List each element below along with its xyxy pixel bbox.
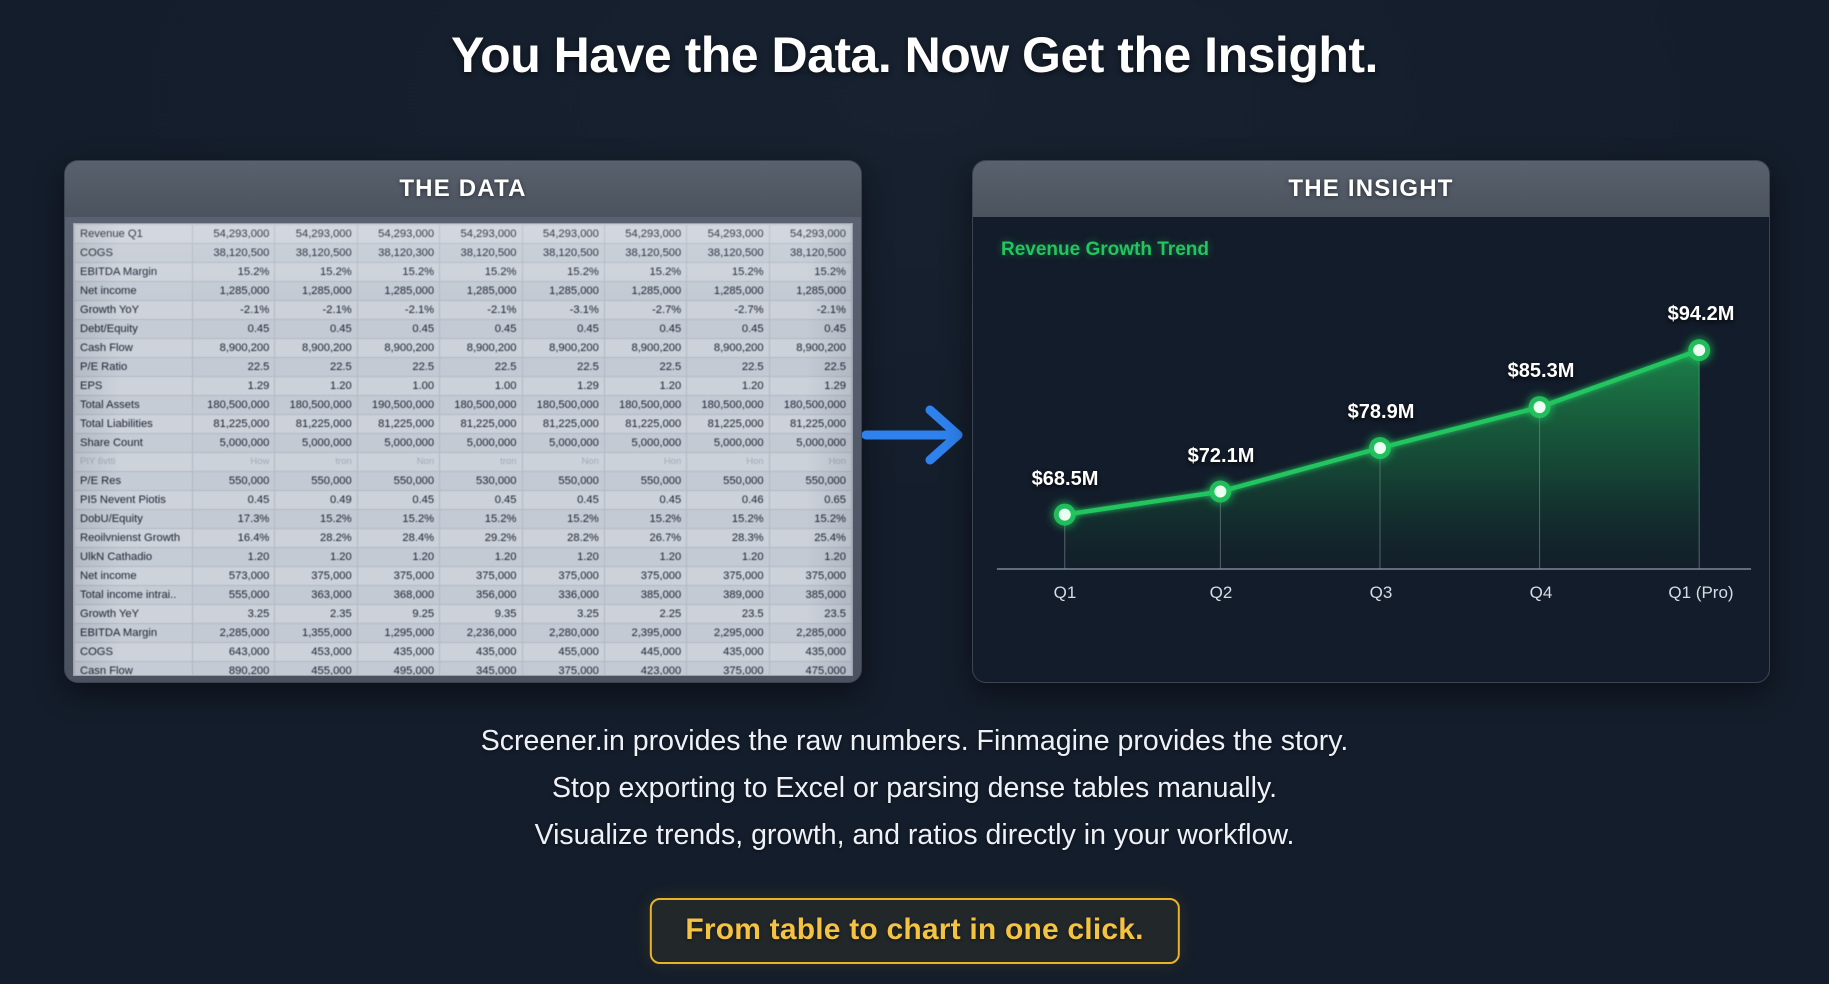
table-row[interactable]: Cash Flow8,900,2008,900,2008,900,2008,90…	[75, 339, 852, 358]
table-cell: 22.5	[769, 358, 851, 377]
table-cell: 550,000	[687, 472, 769, 491]
cta-button[interactable]: From table to chart in one click.	[649, 898, 1179, 964]
table-cell: 0.45	[604, 320, 686, 339]
table-cell: 54,293,000	[769, 225, 851, 244]
table-cell: 1.00	[440, 377, 522, 396]
table-cell: -2.7%	[687, 301, 769, 320]
table-cell: -2.1%	[357, 301, 439, 320]
table-cell: 29.2%	[440, 529, 522, 548]
table-row-label: Cash Flow	[75, 339, 193, 358]
table-cell: 0.45	[769, 320, 851, 339]
table-cell: 38,120,300	[357, 244, 439, 263]
table-cell: 22.5	[275, 358, 357, 377]
table-row[interactable]: COGS643,000453,000435,000435,000455,0004…	[75, 643, 852, 662]
table-row-label: Growth YeY	[75, 605, 193, 624]
table-cell: 8,900,200	[604, 339, 686, 358]
table-cell: 81,225,000	[357, 415, 439, 434]
table-cell: 28.2%	[522, 529, 604, 548]
table-cell: 375,000	[687, 567, 769, 586]
table-cell: 1,295,000	[357, 624, 439, 643]
table-cell: 15.2%	[357, 263, 439, 282]
table-row-label: EBITDA Margin	[75, 263, 193, 282]
table-row[interactable]: Share Count5,000,0005,000,0005,000,0005,…	[75, 434, 852, 453]
table-cell: 1.29	[193, 377, 275, 396]
table-cell: 356,000	[440, 586, 522, 605]
data-panel-body: Revenue Q154,293,00054,293,00054,293,000…	[65, 217, 861, 683]
table-cell: 26.7%	[604, 529, 686, 548]
table-cell: 15.2%	[275, 263, 357, 282]
table-cell: 1,285,000	[687, 282, 769, 301]
table-cell: 38,120,500	[604, 244, 686, 263]
table-cell: 435,000	[687, 643, 769, 662]
table-cell: 455,000	[275, 662, 357, 677]
table-row[interactable]: PIY 6vttiHowtronNontronNonHonHonHon	[75, 453, 852, 472]
table-cell: 1.20	[357, 548, 439, 567]
table-cell: 5,000,000	[193, 434, 275, 453]
table-cell: 1,285,000	[275, 282, 357, 301]
table-cell: 15.2%	[604, 510, 686, 529]
table-cell: -2.1%	[440, 301, 522, 320]
table-cell: 0.46	[687, 491, 769, 510]
table-cell: 0.45	[604, 491, 686, 510]
table-row[interactable]: Revenue Q154,293,00054,293,00054,293,000…	[75, 225, 852, 244]
table-row-label: EBITDA Margin	[75, 624, 193, 643]
table-cell: 25.4%	[769, 529, 851, 548]
table-row-label: Revenue Q1	[75, 225, 193, 244]
table-cell: 375,000	[769, 567, 851, 586]
insight-panel-header: THE INSIGHT	[973, 161, 1769, 217]
table-cell: 1,285,000	[440, 282, 522, 301]
table-row-label: Debt/Equity	[75, 320, 193, 339]
table-cell: 2,285,000	[769, 624, 851, 643]
table-row-label: EPS	[75, 377, 193, 396]
table-row[interactable]: COGS38,120,50038,120,50038,120,30038,120…	[75, 244, 852, 263]
table-cell: 550,000	[357, 472, 439, 491]
table-row-label: UlkN Cathadio	[75, 548, 193, 567]
table-cell: 15.2%	[522, 263, 604, 282]
table-cell: 8,900,200	[687, 339, 769, 358]
table-cell: 5,000,000	[275, 434, 357, 453]
table-cell: 9.25	[357, 605, 439, 624]
table-cell: 336,000	[522, 586, 604, 605]
table-cell: 3.25	[193, 605, 275, 624]
table-cell: 23.5	[687, 605, 769, 624]
table-cell: 0.45	[357, 320, 439, 339]
revenue-line-chart	[973, 217, 1769, 683]
table-cell: 363,000	[275, 586, 357, 605]
chart-point-label: $78.9M	[1348, 401, 1415, 424]
table-row-label: P/E Res	[75, 472, 193, 491]
table-cell: 2,236,000	[440, 624, 522, 643]
table-cell: 81,225,000	[193, 415, 275, 434]
table-row[interactable]: Net income573,000375,000375,000375,00037…	[75, 567, 852, 586]
table-row[interactable]: P/E Ratio22.522.522.522.522.522.522.522.…	[75, 358, 852, 377]
table-cell: 1.00	[357, 377, 439, 396]
table-cell: 0.49	[275, 491, 357, 510]
table-cell: -2.1%	[769, 301, 851, 320]
table-cell: 3.25	[522, 605, 604, 624]
table-cell: 1.20	[604, 377, 686, 396]
table-cell: 550,000	[769, 472, 851, 491]
table-cell: 180,500,000	[687, 396, 769, 415]
table-cell: 0.45	[440, 491, 522, 510]
table-cell: 2.25	[604, 605, 686, 624]
table-cell: 0.45	[357, 491, 439, 510]
table-cell: 180,500,000	[275, 396, 357, 415]
table-cell: 8,900,200	[193, 339, 275, 358]
table-cell: 1.20	[275, 548, 357, 567]
chart-x-tick-label: Q4	[1530, 583, 1553, 603]
table-cell: 15.2%	[687, 510, 769, 529]
table-cell: 890,200	[193, 662, 275, 677]
table-row[interactable]: EBITDA Margin15.2%15.2%15.2%15.2%15.2%15…	[75, 263, 852, 282]
table-cell: 1,285,000	[604, 282, 686, 301]
table-cell: 375,000	[440, 567, 522, 586]
table-cell: -3.1%	[522, 301, 604, 320]
table-cell: 22.5	[193, 358, 275, 377]
chart-point-label: $72.1M	[1188, 445, 1255, 468]
table-row[interactable]: Casn Flow890,200455,000495,000345,000375…	[75, 662, 852, 677]
table-cell: 643,000	[193, 643, 275, 662]
table-cell: 81,225,000	[604, 415, 686, 434]
table-row-label: Casn Flow	[75, 662, 193, 677]
table-cell: 15.2%	[687, 263, 769, 282]
table-cell: 0.45	[522, 491, 604, 510]
table-cell: 1,285,000	[522, 282, 604, 301]
table-cell: 550,000	[604, 472, 686, 491]
table-cell: 15.2%	[604, 263, 686, 282]
table-cell: 1.20	[604, 548, 686, 567]
table-cell: 1.29	[769, 377, 851, 396]
table-cell: 5,000,000	[687, 434, 769, 453]
table-cell: tron	[440, 453, 522, 472]
table-cell: 180,500,000	[604, 396, 686, 415]
table-cell: 28.2%	[275, 529, 357, 548]
table-cell: 15.2%	[440, 510, 522, 529]
chart-point-label: $68.5M	[1032, 468, 1099, 491]
table-cell: 22.5	[604, 358, 686, 377]
table-cell: 28.4%	[357, 529, 439, 548]
table-row-label: Total income intrai..	[75, 586, 193, 605]
table-row[interactable]: EPS1.291.201.001.001.291.201.201.29	[75, 377, 852, 396]
table-cell: 5,000,000	[357, 434, 439, 453]
table-cell: 38,120,500	[440, 244, 522, 263]
table-cell: 0.45	[687, 320, 769, 339]
table-row[interactable]: Total Liabilities81,225,00081,225,00081,…	[75, 415, 852, 434]
table-cell: 0.65	[769, 491, 851, 510]
table-cell: 180,500,000	[193, 396, 275, 415]
table-row-label: P/E Ratio	[75, 358, 193, 377]
table-cell: 385,000	[604, 586, 686, 605]
table-row[interactable]: Growth YoY-2.1%-2.1%-2.1%-2.1%-3.1%-2.7%…	[75, 301, 852, 320]
table-cell: 54,293,000	[357, 225, 439, 244]
chart-x-tick-label: Q1 (Pro)	[1668, 583, 1733, 603]
table-cell: 389,000	[687, 586, 769, 605]
table-row[interactable]: Growth YeY3.252.359.259.353.252.2523.523…	[75, 605, 852, 624]
table-cell: 5,000,000	[604, 434, 686, 453]
table-cell: Non	[522, 453, 604, 472]
table-row[interactable]: Reoilvnienst Growth16.4%28.2%28.4%29.2%2…	[75, 529, 852, 548]
table-cell: 423,000	[604, 662, 686, 677]
table-row[interactable]: DobU/Equity17.3%15.2%15.2%15.2%15.2%15.2…	[75, 510, 852, 529]
table-cell: 81,225,000	[275, 415, 357, 434]
table-cell: 81,225,000	[687, 415, 769, 434]
table-cell: 2,295,000	[687, 624, 769, 643]
table-cell: 54,293,000	[193, 225, 275, 244]
chart-data-point[interactable]	[1059, 509, 1071, 521]
table-cell: 38,120,500	[687, 244, 769, 263]
table-cell: 38,120,500	[769, 244, 851, 263]
table-cell: 495,000	[357, 662, 439, 677]
table-row-label: Reoilvnienst Growth	[75, 529, 193, 548]
table-cell: 15.2%	[769, 510, 851, 529]
table-cell: 17.3%	[193, 510, 275, 529]
chart-data-point[interactable]	[1214, 486, 1226, 498]
chart-x-tick-label: Q3	[1370, 583, 1393, 603]
table-cell: 385,000	[769, 586, 851, 605]
table-cell: 1.20	[687, 548, 769, 567]
table-cell: 435,000	[357, 643, 439, 662]
chart-point-label: $85.3M	[1508, 360, 1575, 383]
chart-x-tick-label: Q2	[1210, 583, 1233, 603]
arrow-right-icon	[862, 400, 972, 470]
table-row-label: Total Assets	[75, 396, 193, 415]
chart-data-point[interactable]	[1534, 401, 1546, 413]
table-cell: 5,000,000	[440, 434, 522, 453]
table-cell: 1.29	[522, 377, 604, 396]
data-panel: THE DATA Revenue Q154,293,00054,293,0005…	[64, 160, 862, 683]
table-cell: 22.5	[687, 358, 769, 377]
body-copy-line-3: Visualize trends, growth, and ratios dir…	[0, 812, 1829, 859]
table-cell: 54,293,000	[440, 225, 522, 244]
table-cell: 0.45	[193, 320, 275, 339]
table-cell: 15.2%	[193, 263, 275, 282]
table-cell: 2.35	[275, 605, 357, 624]
table-row[interactable]: Debt/Equity0.450.450.450.450.450.450.450…	[75, 320, 852, 339]
table-cell: 1,285,000	[769, 282, 851, 301]
table-cell: 1.20	[687, 377, 769, 396]
table-cell: -2.1%	[193, 301, 275, 320]
data-panel-header: THE DATA	[65, 161, 861, 217]
table-cell: 8,900,200	[522, 339, 604, 358]
spreadsheet[interactable]: Revenue Q154,293,00054,293,00054,293,000…	[73, 223, 853, 676]
table-cell: 555,000	[193, 586, 275, 605]
table-cell: 375,000	[275, 567, 357, 586]
table-cell: 190,500,000	[357, 396, 439, 415]
page-title: You Have the Data. Now Get the Insight.	[0, 26, 1829, 84]
insight-panel: THE INSIGHT Revenue Growth Trend	[972, 160, 1770, 683]
table-cell: 375,000	[357, 567, 439, 586]
table-cell: 0.45	[440, 320, 522, 339]
table-cell: 550,000	[193, 472, 275, 491]
body-copy: Screener.in provides the raw numbers. Fi…	[0, 718, 1829, 859]
table-cell: 1.20	[440, 548, 522, 567]
table-cell: 15.2%	[275, 510, 357, 529]
table-cell: 0.45	[522, 320, 604, 339]
table-cell: 180,500,000	[522, 396, 604, 415]
table-cell: 16.4%	[193, 529, 275, 548]
table-cell: 530,000	[440, 472, 522, 491]
table-cell: 2,280,000	[522, 624, 604, 643]
table-cell: 435,000	[769, 643, 851, 662]
table-row-label: Net income	[75, 282, 193, 301]
table-row[interactable]: Total Assets180,500,000180,500,000190,50…	[75, 396, 852, 415]
table-cell: 180,500,000	[769, 396, 851, 415]
table-cell: 54,293,000	[275, 225, 357, 244]
table-cell: -2.1%	[275, 301, 357, 320]
table-cell: 180,500,000	[440, 396, 522, 415]
chart-area[interactable]: Revenue Growth Trend	[973, 217, 1769, 683]
table-cell: 38,120,500	[275, 244, 357, 263]
body-copy-line-1: Screener.in provides the raw numbers. Fi…	[0, 718, 1829, 765]
table-row-label: COGS	[75, 244, 193, 263]
table-cell: 38,120,500	[522, 244, 604, 263]
table-cell: 375,000	[687, 662, 769, 677]
table-cell: 15.2%	[357, 510, 439, 529]
table-cell: 5,000,000	[522, 434, 604, 453]
table-cell: 2,395,000	[604, 624, 686, 643]
table-cell: 5,000,000	[769, 434, 851, 453]
table-cell: 8,900,200	[769, 339, 851, 358]
table-cell: Hon	[769, 453, 851, 472]
table-cell: 1,355,000	[275, 624, 357, 643]
table-cell: 435,000	[440, 643, 522, 662]
table-cell: 2,285,000	[193, 624, 275, 643]
table-cell: 573,000	[193, 567, 275, 586]
table-cell: 22.5	[522, 358, 604, 377]
table-cell: 445,000	[604, 643, 686, 662]
table-cell: 0.45	[275, 320, 357, 339]
table-cell: 1,285,000	[357, 282, 439, 301]
table-cell: 22.5	[357, 358, 439, 377]
table-row[interactable]: EBITDA Margin2,285,0001,355,0001,295,000…	[75, 624, 852, 643]
table-cell: How	[193, 453, 275, 472]
table-cell: 1.20	[522, 548, 604, 567]
table-cell: 475,000	[769, 662, 851, 677]
table-cell: 8,900,200	[275, 339, 357, 358]
table-cell: 453,000	[275, 643, 357, 662]
table-cell: 375,000	[522, 662, 604, 677]
table-cell: 54,293,000	[687, 225, 769, 244]
table-cell: 9.35	[440, 605, 522, 624]
table-row-label: COGS	[75, 643, 193, 662]
financial-table[interactable]: Revenue Q154,293,00054,293,00054,293,000…	[74, 224, 852, 676]
chart-data-point[interactable]	[1693, 344, 1705, 356]
table-cell: -2.7%	[604, 301, 686, 320]
table-cell: Non	[357, 453, 439, 472]
table-cell: 22.5	[440, 358, 522, 377]
table-cell: 1,285,000	[193, 282, 275, 301]
table-cell: 54,293,000	[522, 225, 604, 244]
table-cell: 23.5	[769, 605, 851, 624]
table-cell: 28.3%	[687, 529, 769, 548]
table-row-label: DobU/Equity	[75, 510, 193, 529]
poster-canvas: You Have the Data. Now Get the Insight. …	[0, 0, 1829, 984]
table-cell: 1.20	[275, 377, 357, 396]
table-cell: 550,000	[275, 472, 357, 491]
table-cell: 550,000	[522, 472, 604, 491]
table-cell: 0.45	[193, 491, 275, 510]
table-cell: 8,900,200	[440, 339, 522, 358]
table-row[interactable]: UlkN Cathadio1.201.201.201.201.201.201.2…	[75, 548, 852, 567]
table-row[interactable]: P/E Res550,000550,000550,000530,000550,0…	[75, 472, 852, 491]
table-cell: Hon	[604, 453, 686, 472]
table-cell: 1.20	[193, 548, 275, 567]
table-cell: 15.2%	[769, 263, 851, 282]
table-cell: 15.2%	[440, 263, 522, 282]
table-cell: 15.2%	[522, 510, 604, 529]
table-row-label: Total Liabilities	[75, 415, 193, 434]
table-row-label: PIY 6vtti	[75, 453, 193, 472]
table-cell: 81,225,000	[440, 415, 522, 434]
table-row-label: Growth YoY	[75, 301, 193, 320]
table-cell: 375,000	[522, 567, 604, 586]
table-row[interactable]: Net income1,285,0001,285,0001,285,0001,2…	[75, 282, 852, 301]
table-cell: 368,000	[357, 586, 439, 605]
table-cell: 455,000	[522, 643, 604, 662]
table-cell: 345,000	[440, 662, 522, 677]
table-cell: tron	[275, 453, 357, 472]
table-cell: 54,293,000	[604, 225, 686, 244]
table-row-label: Net income	[75, 567, 193, 586]
table-row[interactable]: Total income intrai..555,000363,000368,0…	[75, 586, 852, 605]
table-cell: 375,000	[604, 567, 686, 586]
table-row-label: Share Count	[75, 434, 193, 453]
table-cell: 8,900,200	[357, 339, 439, 358]
table-cell: 1.20	[769, 548, 851, 567]
table-cell: 38,120,500	[193, 244, 275, 263]
table-cell: 81,225,000	[769, 415, 851, 434]
chart-data-point[interactable]	[1374, 442, 1386, 454]
body-copy-line-2: Stop exporting to Excel or parsing dense…	[0, 765, 1829, 812]
table-row[interactable]: PI5 Nevent Piotis0.450.490.450.450.450.4…	[75, 491, 852, 510]
chart-point-label: $94.2M	[1668, 303, 1735, 326]
table-cell: Hon	[687, 453, 769, 472]
chart-x-tick-label: Q1	[1054, 583, 1077, 603]
table-row-label: PI5 Nevent Piotis	[75, 491, 193, 510]
table-cell: 81,225,000	[522, 415, 604, 434]
